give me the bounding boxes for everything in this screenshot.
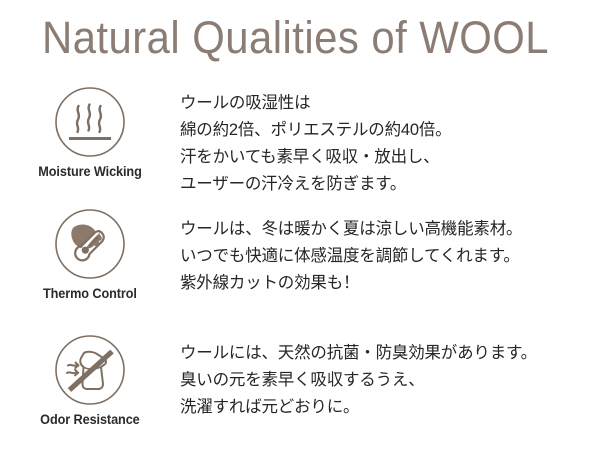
feature-label: Odor Resistance — [40, 412, 139, 427]
feature-text-line: 臭いの元を素早く吸収するうえ、 — [180, 367, 586, 394]
steam-rising-icon — [54, 86, 126, 158]
feature-icon-block-odor-resistance: Odor Resistance — [0, 332, 180, 427]
feature-text-line: ユーザーの汗冷えを防ぎます。 — [180, 171, 586, 198]
page-title: Natural Qualities of WOOL — [42, 12, 526, 64]
feature-text-line: 洗濯すれば元どおりに。 — [180, 394, 586, 421]
feature-row: Moisture Wicking ウールの吸湿性は 綿の約2倍、ポリエステルの約… — [0, 84, 600, 198]
feature-text-block: ウールには、天然の抗菌・防臭効果があります。 臭いの元を素早く吸収するうえ、 洗… — [180, 332, 600, 421]
sun-thermometer-icon — [54, 208, 126, 280]
feature-text-line: いつでも快適に体感温度を調節してくれます。 — [180, 243, 586, 270]
feature-text-block: ウールの吸湿性は 綿の約2倍、ポリエステルの約40倍。 汗をかいても素早く吸収・… — [180, 84, 600, 198]
wool-qualities-infographic: Natural Qualities of WOOL Moisture Wicki… — [0, 0, 600, 450]
feature-text-line: 紫外線カットの効果も！ — [180, 270, 586, 297]
feature-icon-block-thermo-control: Thermo Control — [0, 206, 180, 301]
feature-row: Thermo Control ウールは、冬は暖かく夏は涼しい高機能素材。 いつで… — [0, 206, 600, 301]
feature-text-block: ウールは、冬は暖かく夏は涼しい高機能素材。 いつでも快適に体感温度を調節してくれ… — [180, 206, 600, 297]
feature-text-line: ウールの吸湿性は — [180, 90, 586, 117]
feature-text-line: 汗をかいても素早く吸収・放出し、 — [180, 144, 586, 171]
feature-icon-block-moisture-wicking: Moisture Wicking — [0, 84, 180, 179]
no-odor-shirt-icon — [54, 334, 126, 406]
feature-row: Odor Resistance ウールには、天然の抗菌・防臭効果があります。 臭… — [0, 332, 600, 427]
feature-text-line: ウールには、天然の抗菌・防臭効果があります。 — [180, 340, 586, 367]
feature-label: Moisture Wicking — [38, 164, 141, 179]
feature-text-line: 綿の約2倍、ポリエステルの約40倍。 — [180, 117, 586, 144]
feature-label: Thermo Control — [43, 286, 137, 301]
feature-text-line: ウールは、冬は暖かく夏は涼しい高機能素材。 — [180, 216, 586, 243]
